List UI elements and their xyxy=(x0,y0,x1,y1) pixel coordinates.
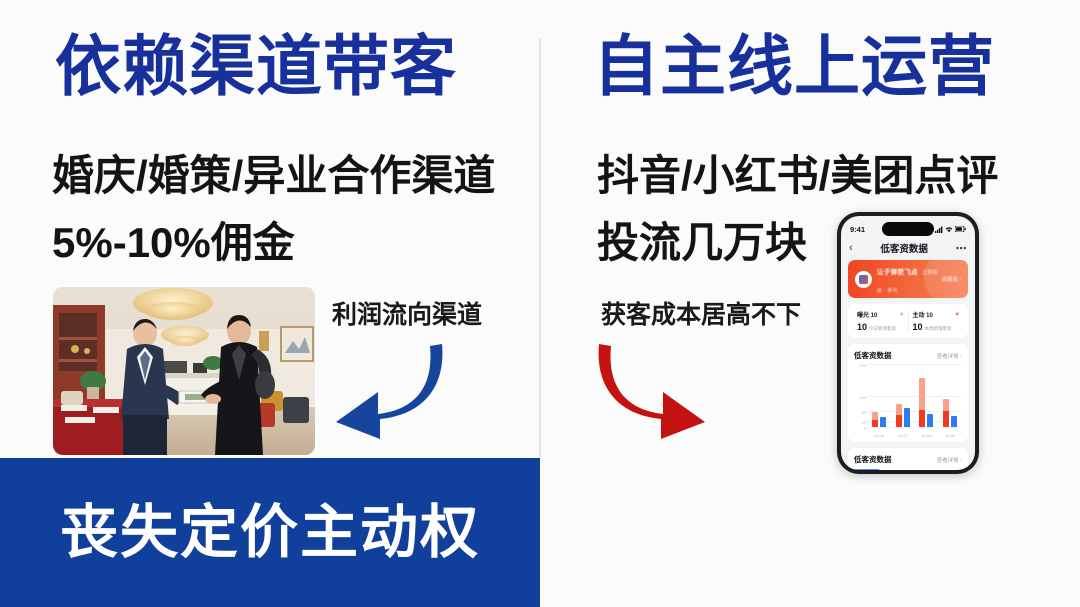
curved-arrow-down-right-icon xyxy=(591,340,711,440)
stat-head: 曝光 10 × xyxy=(857,310,904,319)
stat-label: 曝光 10 xyxy=(857,310,877,319)
bar-series-conversion xyxy=(919,410,925,427)
phone-nav-title: 低客资数据 xyxy=(880,241,928,255)
chart-x-ticks: 10-0610-0710-0810-09 xyxy=(867,433,962,438)
right-panel: 自主线上运营 抖音/小红书/美团点评 投流几万块 获客成本居高不下 9:41 xyxy=(541,0,1080,458)
stat-body: 10 今日新增客资 xyxy=(857,322,904,332)
bar-series-exposure xyxy=(872,412,878,427)
phone-notch xyxy=(882,222,934,236)
right-annotation-text: 获客成本居高不下 xyxy=(601,303,801,328)
stats-row: 曝光 10 × 10 今日新增客资 主动 10 × xyxy=(848,304,968,338)
chart-card-title: 低客资数据 xyxy=(854,350,892,361)
phone-nav-bar: ‹ 低客资数据 ⋯ xyxy=(841,240,975,260)
chevron-left-icon[interactable]: ‹ xyxy=(849,242,853,254)
bar-series-conversion xyxy=(943,411,949,427)
phone-screen: 9:41 xyxy=(841,216,975,470)
stat-value: 10 xyxy=(857,322,867,332)
gridline: 0 xyxy=(867,427,962,428)
y-tick-label: 0 xyxy=(854,426,866,431)
bar-group xyxy=(943,364,957,427)
stat-cell[interactable]: 曝光 10 × 10 今日新增客资 xyxy=(853,310,908,332)
curved-arrow-down-left-icon xyxy=(330,340,450,440)
bottom-card: 低客资数据 查看详情 › xyxy=(848,448,968,470)
chart-bars xyxy=(867,364,962,427)
right-panel-title: 自主线上运营 xyxy=(593,33,995,99)
y-tick-label: 20 xyxy=(854,420,866,425)
promo-banner-card[interactable]: 让子弹更飞点 立即投放 · 参与 去报名 › xyxy=(848,260,968,298)
close-icon[interactable]: × xyxy=(955,312,959,318)
bar-series-conversion xyxy=(896,415,902,427)
bar-series-click xyxy=(904,408,910,427)
chart-card: 低客资数据 查看详情 › 02050100200 10-0610-0710-08… xyxy=(848,344,968,442)
infographic-canvas: 依赖渠道带客 婚庆/婚策/异业合作渠道 5%-10%佣金 利润流向渠道 xyxy=(0,0,1080,607)
close-icon[interactable]: × xyxy=(900,312,904,318)
bar-series-exposure xyxy=(919,378,925,427)
signal-icon xyxy=(935,226,943,233)
status-icon-group xyxy=(935,226,966,233)
left-banner: 丧失定价主动权 xyxy=(0,458,540,607)
chart-card-link-label: 查看详情 xyxy=(937,354,959,360)
bar-group xyxy=(919,364,933,427)
x-tick-label: 10-09 xyxy=(945,433,955,438)
bar-series-exposure xyxy=(943,399,949,427)
x-tick-label: 10-06 xyxy=(874,433,884,438)
left-banner-text: 丧失定价主动权 xyxy=(60,504,480,562)
bottom-card-title: 低客资数据 xyxy=(854,454,892,465)
bottom-card-link[interactable]: 查看详情 › xyxy=(937,456,962,464)
status-time: 9:41 xyxy=(850,225,865,234)
bar-series-conversion xyxy=(872,420,878,427)
bar-series-click xyxy=(880,417,886,427)
left-subtitle-line-2: 5%-10%佣金 xyxy=(52,222,295,264)
y-tick-label: 100 xyxy=(854,395,866,400)
wifi-icon xyxy=(945,226,953,233)
left-panel-title: 依赖渠道带客 xyxy=(55,33,457,99)
stat-body: 10 本周新增客资 xyxy=(913,322,960,332)
y-tick-label: 200 xyxy=(854,363,866,368)
bottom-card-link-label: 查看详情 xyxy=(937,458,959,464)
promo-title: 让子弹更飞点 xyxy=(877,269,918,276)
bottom-card-placeholder-bar xyxy=(854,469,880,470)
bar-group xyxy=(896,364,910,427)
promo-cta-label: 去报名 xyxy=(942,275,959,283)
right-subtitle-line-2: 投流几万块 xyxy=(597,222,807,264)
chevron-right-icon: › xyxy=(960,458,962,464)
app-icon xyxy=(855,271,872,288)
stat-value: 10 xyxy=(913,322,923,332)
bar-series-exposure xyxy=(896,404,902,427)
bottom-card-header: 低客资数据 查看详情 › xyxy=(854,454,962,465)
left-panel: 依赖渠道带客 婚庆/婚策/异业合作渠道 5%-10%佣金 利润流向渠道 xyxy=(0,0,539,458)
bar-chart: 02050100200 10-0610-0710-0810-09 xyxy=(854,364,962,438)
stat-unit: 本周新增客资 xyxy=(925,326,952,332)
phone-mockup: 9:41 xyxy=(837,212,979,474)
stat-cell[interactable]: 主动 10 × 10 本周新增客资 xyxy=(908,310,964,332)
y-tick-label: 50 xyxy=(854,410,866,415)
chart-card-link[interactable]: 查看详情 › xyxy=(937,352,962,360)
channel-partner-photo xyxy=(53,287,315,455)
chevron-right-icon: › xyxy=(960,354,962,360)
chevron-right-icon: › xyxy=(959,276,961,282)
stat-unit: 今日新增客资 xyxy=(869,326,896,332)
promo-text-block: 让子弹更飞点 立即投放 · 参与 xyxy=(877,261,942,297)
bar-group xyxy=(872,364,886,427)
left-annotation-text: 利润流向渠道 xyxy=(332,303,482,328)
stat-head: 主动 10 × xyxy=(913,310,960,319)
bar-series-click xyxy=(951,416,957,427)
right-subtitle-line-1: 抖音/小红书/美团点评 xyxy=(597,155,998,197)
left-subtitle-line-1: 婚庆/婚策/异业合作渠道 xyxy=(52,155,495,197)
stat-label: 主动 10 xyxy=(913,310,933,319)
bar-series-click xyxy=(927,414,933,427)
chart-card-header: 低客资数据 查看详情 › xyxy=(854,350,962,361)
more-horizontal-icon[interactable]: ⋯ xyxy=(956,242,968,255)
promo-cta-button[interactable]: 去报名 › xyxy=(942,275,961,283)
x-tick-label: 10-08 xyxy=(921,433,931,438)
battery-icon xyxy=(955,226,966,232)
x-tick-label: 10-07 xyxy=(898,433,908,438)
